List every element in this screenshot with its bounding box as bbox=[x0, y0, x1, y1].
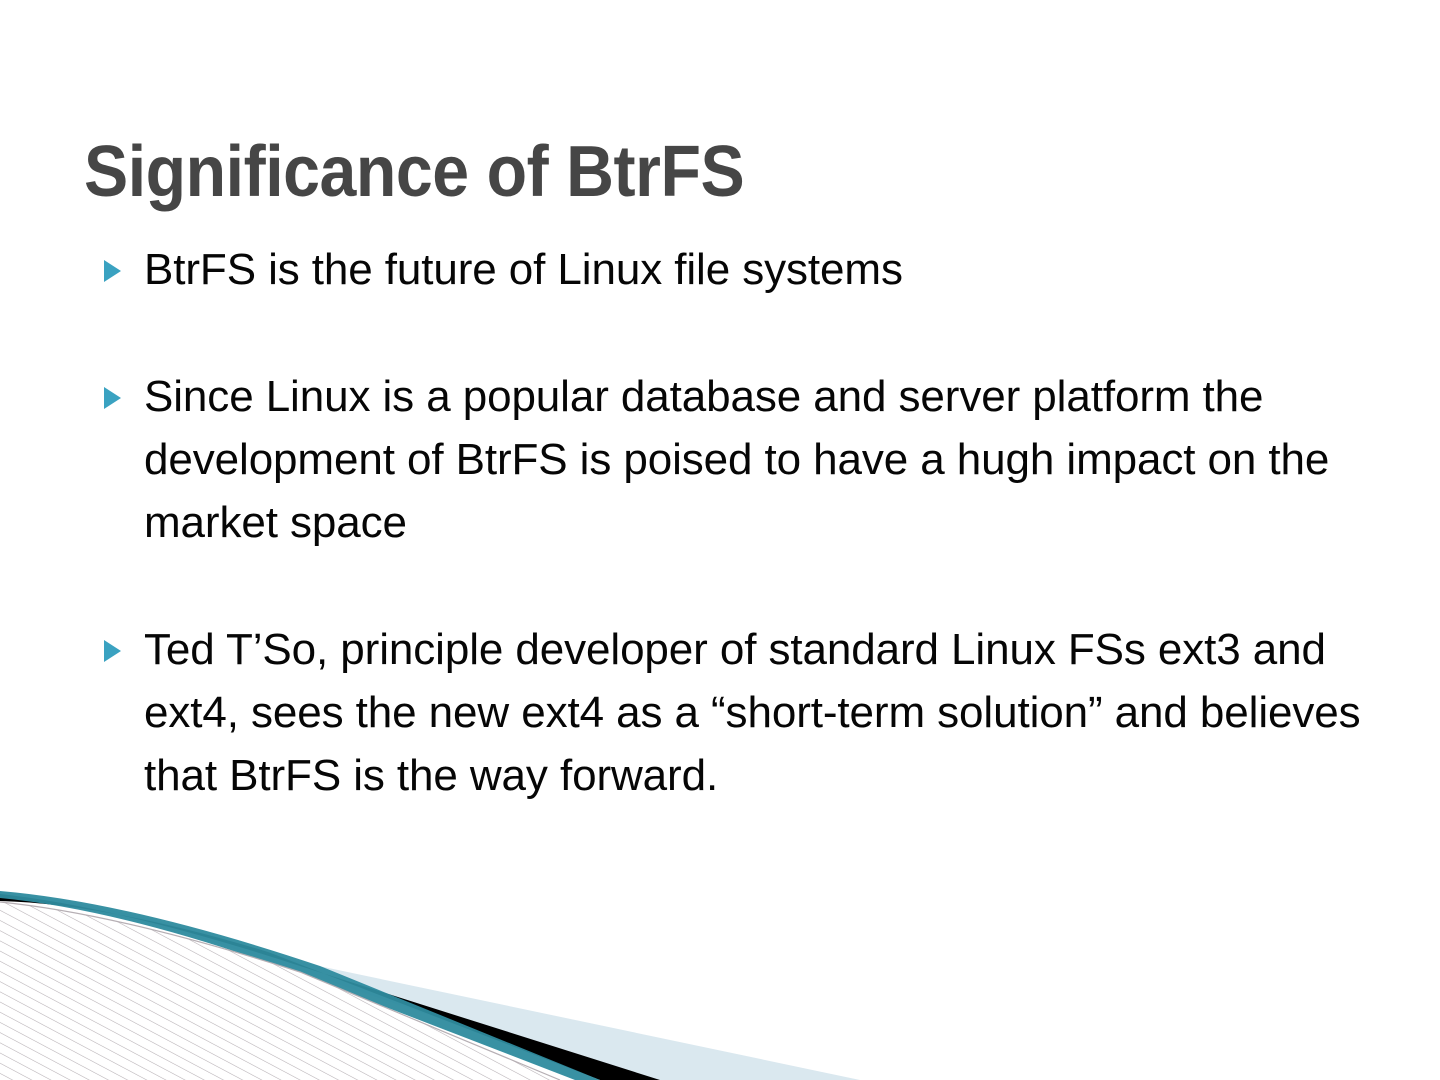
list-item: BtrFS is the future of Linux file system… bbox=[100, 238, 1410, 301]
page-title: Significance of BtrFS bbox=[84, 134, 1262, 210]
triangle-bullet-icon bbox=[104, 387, 121, 409]
triangle-bullet-icon bbox=[104, 640, 121, 662]
deco-teal-line bbox=[0, 891, 600, 1080]
triangle-bullet-icon bbox=[104, 260, 121, 282]
deco-hatch-lines bbox=[0, 880, 1000, 1080]
bullet-list: BtrFS is the future of Linux file system… bbox=[100, 238, 1410, 807]
list-item: Since Linux is a popular database and se… bbox=[100, 365, 1410, 554]
list-item-label: Since Linux is a popular database and se… bbox=[144, 365, 1410, 554]
list-item-label: BtrFS is the future of Linux file system… bbox=[144, 238, 1410, 301]
list-item: Ted T’So, principle developer of standar… bbox=[100, 618, 1410, 807]
slide: Significance of BtrFS BtrFS is the futur… bbox=[0, 0, 1440, 1080]
list-item-label: Ted T’So, principle developer of standar… bbox=[144, 618, 1410, 807]
deco-hatch-base bbox=[0, 902, 560, 1080]
deco-light-blue-band bbox=[0, 892, 860, 1080]
deco-black-band bbox=[0, 894, 660, 1080]
deco-hatch-edge bbox=[0, 902, 560, 1080]
corner-decoration-graphic bbox=[0, 880, 1000, 1080]
